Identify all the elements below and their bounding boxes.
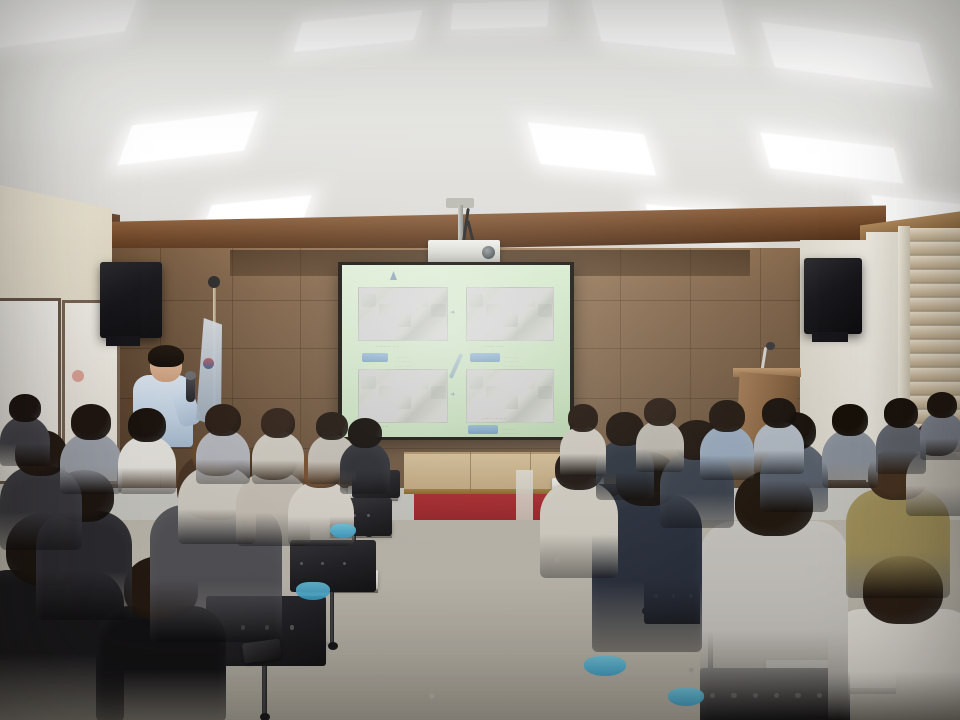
attendee [118, 408, 176, 494]
attendee-head [9, 394, 41, 422]
attendee-torso [822, 429, 878, 488]
attendee [822, 404, 878, 488]
attendee-head [884, 398, 918, 428]
attendee-torso [60, 432, 122, 494]
attendee-head [128, 408, 166, 442]
attendee-head [927, 392, 957, 418]
attendee-head [205, 404, 241, 436]
attendee [252, 408, 304, 484]
attendee-head [709, 400, 745, 432]
attendee [700, 400, 754, 480]
attendee [340, 418, 390, 494]
attendee-head [832, 404, 868, 436]
attendee [0, 394, 50, 466]
attendee-torso [754, 421, 804, 474]
attendee-torso [118, 435, 176, 494]
shoe-1 [296, 582, 330, 600]
attendee-head [568, 404, 598, 432]
attendee [754, 398, 804, 474]
shoe-2 [584, 656, 626, 676]
attendee [636, 398, 684, 472]
attendee [920, 392, 960, 460]
audience-layer [0, 0, 960, 720]
attendee-torso [0, 416, 50, 466]
attendee-head [762, 398, 796, 428]
attendee [876, 398, 926, 474]
attendee [196, 404, 250, 484]
shoe-3 [330, 524, 356, 538]
attendee [60, 404, 122, 494]
attendee-torso [636, 420, 684, 472]
shoe-4 [668, 688, 704, 706]
attendee-head [261, 408, 295, 438]
attendee-torso [920, 412, 960, 460]
attendee-head [71, 404, 111, 440]
attendee-torso [196, 429, 250, 484]
attendee-head [348, 418, 382, 448]
attendee-torso [340, 441, 390, 494]
lecture-hall-photo: ············ ············· ·············… [0, 0, 960, 720]
attendee-torso [700, 521, 848, 720]
attendee-torso [560, 426, 606, 476]
attendee-torso [252, 431, 304, 484]
attendee [560, 404, 606, 476]
attendee-torso [876, 421, 926, 474]
attendee-torso [700, 425, 754, 480]
attendee-head [644, 398, 676, 426]
